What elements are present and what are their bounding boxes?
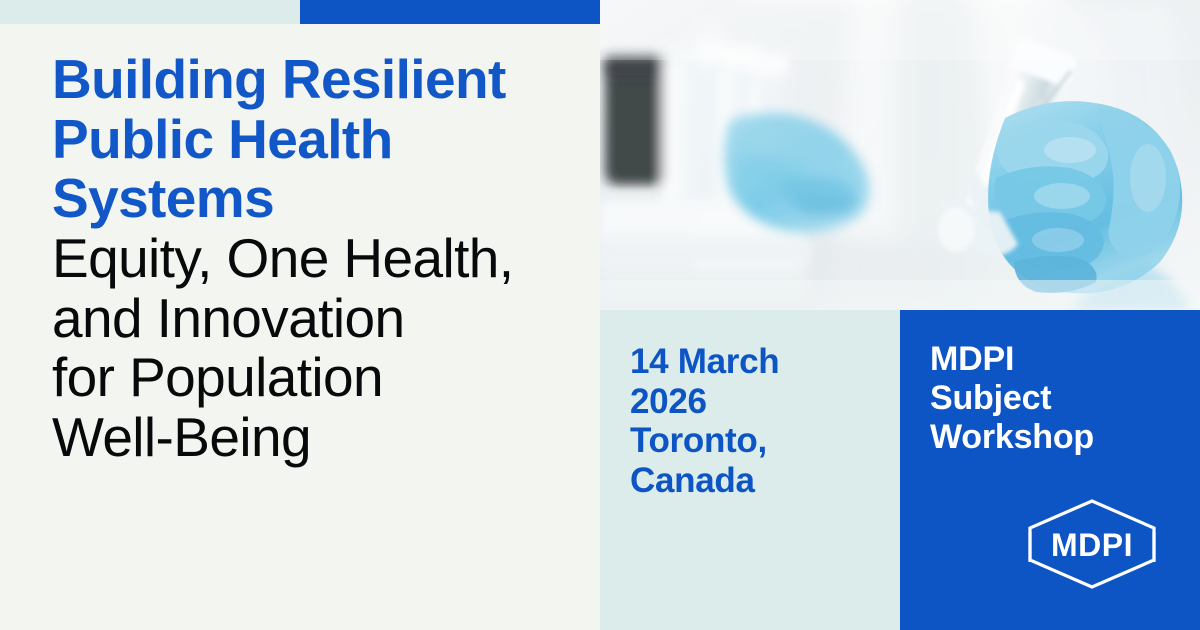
brand-panel: MDPI Subject Workshop MDPI [900,310,1200,630]
workshop-banner: Building Resilient Public Health Systems… [0,0,1200,630]
mdpi-logo-icon: MDPI [1026,498,1158,590]
mdpi-logo-text: MDPI [1051,527,1133,563]
page-title: Building Resilient Public Health Systems [52,50,570,229]
top-accent-strip-teal [0,0,300,24]
laboratory-photo [600,0,1200,310]
top-accent-strip-blue [300,0,600,24]
event-date-location: 14 March 2026 Toronto, Canada [630,342,884,500]
brand-label: MDPI Subject Workshop [930,340,1182,456]
event-details-panel: 14 March 2026 Toronto, Canada [600,310,900,630]
headline-panel: Building Resilient Public Health Systems… [0,24,600,630]
page-subtitle: Equity, One Health, and Innovation for P… [52,229,570,468]
